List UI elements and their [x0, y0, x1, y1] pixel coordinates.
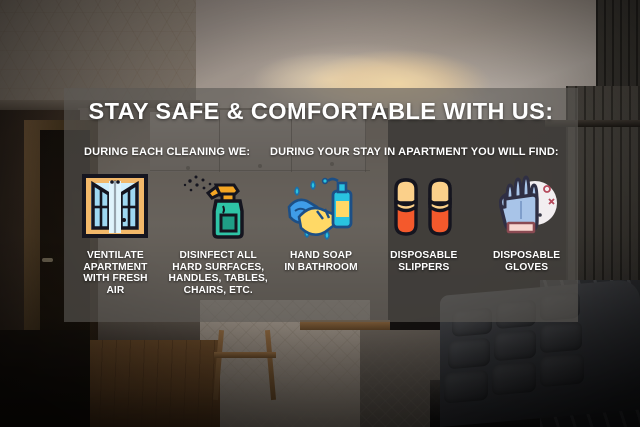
info-overlay-panel: STAY SAFE & COMFORTABLE WITH US: DURING …: [64, 88, 578, 322]
slippers-icon: [385, 168, 463, 244]
caption-hand-soap: HAND SOAP IN BATHROOM: [284, 250, 357, 273]
caption-line: DISPOSABLE: [493, 250, 560, 262]
item-gloves: DISPOSABLE GLOVES: [475, 168, 578, 320]
glove-icon: [488, 168, 566, 244]
subhead-during-each-cleaning: DURING EACH CLEANING WE:: [84, 146, 250, 158]
caption-line: GLOVES: [493, 262, 560, 274]
caption-line: WITH FRESH: [83, 273, 147, 285]
item-hand-soap: HAND SOAP IN BATHROOM: [270, 168, 373, 320]
caption-line: AIR: [83, 285, 147, 297]
item-disinfect: DISINFECT ALL HARD SURFACES, HANDLES, TA…: [167, 168, 270, 320]
hand-washing-soap-icon: [282, 168, 360, 244]
caption-line: HARD SURFACES,: [169, 262, 268, 274]
spray-bottle-icon: [179, 168, 257, 244]
item-slippers: DISPOSABLE SLIPPERS: [372, 168, 475, 320]
caption-disinfect: DISINFECT ALL HARD SURFACES, HANDLES, TA…: [169, 250, 268, 296]
item-ventilate: VENTILATE APARTMENT WITH FRESH AIR: [64, 168, 167, 320]
icon-columns: VENTILATE APARTMENT WITH FRESH AIR: [64, 168, 578, 320]
caption-line: IN BATHROOM: [284, 262, 357, 274]
caption-slippers: DISPOSABLE SLIPPERS: [390, 250, 457, 273]
page-title: STAY SAFE & COMFORTABLE WITH US:: [64, 98, 578, 125]
caption-gloves: DISPOSABLE GLOVES: [493, 250, 560, 273]
open-window-icon: [76, 168, 154, 244]
caption-line: VENTILATE: [83, 250, 147, 262]
caption-line: DISPOSABLE: [390, 250, 457, 262]
caption-line: HAND SOAP: [284, 250, 357, 262]
caption-line: SLIPPERS: [390, 262, 457, 274]
caption-line: DISINFECT ALL: [169, 250, 268, 262]
caption-line: HANDLES, TABLES,: [169, 273, 268, 285]
subhead-during-your-stay: DURING YOUR STAY IN APARTMENT YOU WILL F…: [270, 146, 559, 158]
caption-line: CHAIRS, ETC.: [169, 285, 268, 297]
caption-line: APARTMENT: [83, 262, 147, 274]
caption-ventilate: VENTILATE APARTMENT WITH FRESH AIR: [83, 250, 147, 296]
